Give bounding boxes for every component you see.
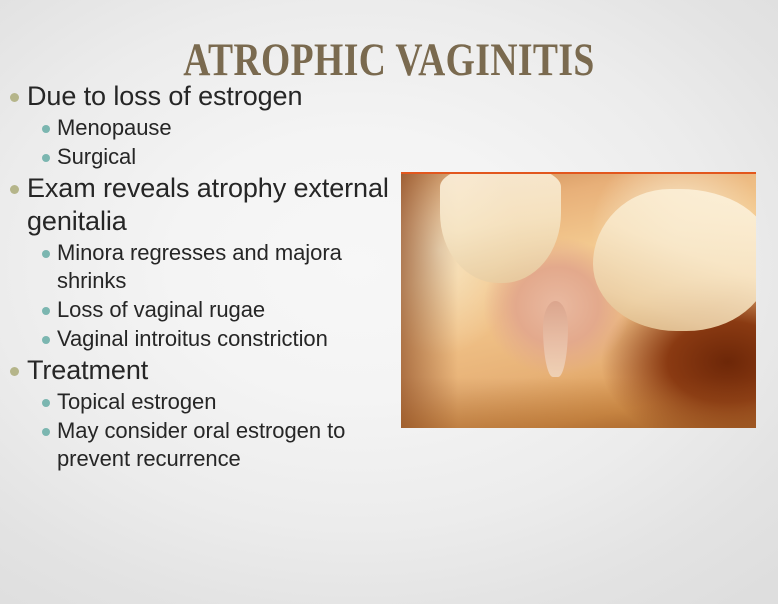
bullet-dot-icon [42,399,50,407]
bullet-label: Loss of vaginal rugae [57,296,265,324]
bullet-item-level-1: Due to loss of estrogen [0,80,400,113]
bullet-label: Due to loss of estrogen [27,80,302,113]
photo-shadow-bottom [401,377,756,428]
bullet-label: May consider oral estrogen to prevent re… [57,417,400,473]
bullet-dot-icon [42,125,50,133]
bullet-list: Due to loss of estrogenMenopauseSurgical… [0,80,400,474]
bullet-item-level-1: Treatment [0,354,400,387]
bullet-dot-icon [42,154,50,162]
bullet-item-level-2: May consider oral estrogen to prevent re… [0,417,400,473]
bullet-label: Treatment [27,354,148,387]
bullet-dot-icon [42,250,50,258]
clinical-photo: clinical-photograph-external-genitalia-e… [401,172,756,428]
photo-introitus-region [543,301,568,377]
bullet-item-level-2: Vaginal introitus constriction [0,325,400,353]
bullet-item-level-2: Topical estrogen [0,388,400,416]
photo-gloved-hand [593,189,756,331]
bullet-dot-icon [42,336,50,344]
bullet-item-level-1: Exam reveals atrophy external genitalia [0,172,400,238]
bullet-dot-icon [42,428,50,436]
bullet-dot-icon [10,93,19,102]
bullet-label: Topical estrogen [57,388,216,416]
bullet-dot-icon [10,367,19,376]
bullet-label: Vaginal introitus constriction [57,325,328,353]
slide-canvas: ATROPHIC VAGINITIS Due to loss of estrog… [0,0,778,604]
bullet-dot-icon [10,185,19,194]
bullet-item-level-2: Minora regresses and majora shrinks [0,239,400,295]
bullet-item-level-2: Loss of vaginal rugae [0,296,400,324]
page-title: ATROPHIC VAGINITIS [78,35,700,85]
bullet-label: Exam reveals atrophy external genitalia [27,172,400,238]
bullet-label: Surgical [57,143,136,171]
bullet-label: Menopause [57,114,172,142]
bullet-label: Minora regresses and majora shrinks [57,239,400,295]
photo-examiner-fingers [440,172,561,283]
bullet-dot-icon [42,307,50,315]
bullet-item-level-2: Menopause [0,114,400,142]
bullet-item-level-2: Surgical [0,143,400,171]
